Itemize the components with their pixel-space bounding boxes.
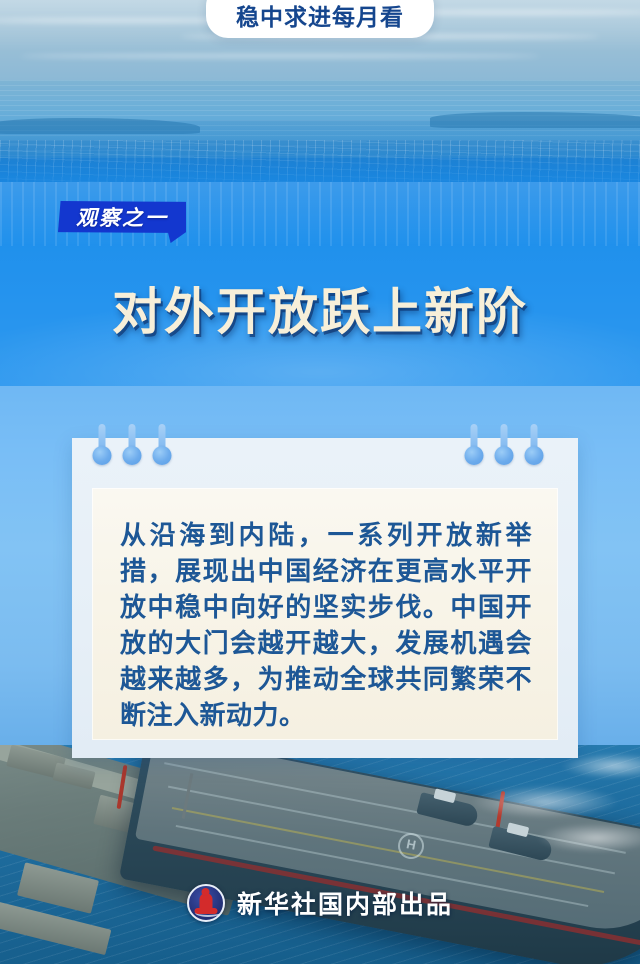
observation-tag: 观察之一 — [58, 201, 186, 243]
emblem-arc — [195, 908, 221, 917]
footer-producer-label: 新华社国内部出品 — [237, 885, 453, 921]
note-pin-icon — [464, 424, 483, 466]
observation-tag-label: 观察之一 — [58, 204, 186, 232]
note-card-body-text: 从沿海到内陆，一系列开放新举措，展现出中国经济在更高水平开放中稳中向好的坚实步伐… — [120, 518, 532, 734]
infographic-poster: 稳中求进每月看 观察之一 对外开放跃上新阶 从沿海到内陆，一系列开放新举措，展现… — [0, 0, 640, 964]
pin-head — [494, 446, 513, 465]
note-pin-icon — [152, 424, 171, 466]
series-title-label: 稳中求进每月看 — [236, 6, 404, 29]
note-pin-icon — [524, 424, 543, 466]
note-pin-icon — [92, 424, 111, 466]
note-pin-icon — [122, 424, 141, 466]
pin-head — [152, 446, 171, 465]
pin-head — [464, 446, 483, 465]
series-title-badge: 稳中求进每月看 — [206, 0, 434, 38]
cloud-streak — [20, 54, 540, 58]
boat-wake — [470, 785, 620, 819]
note-pin-icon — [494, 424, 513, 466]
footer: 新华社国内部出品 — [0, 884, 640, 922]
note-card-inner-panel: 从沿海到内陆，一系列开放新举措，展现出中国经济在更高水平开放中稳中向好的坚实步伐… — [92, 488, 558, 740]
pin-head — [92, 446, 111, 465]
xinhua-emblem-icon — [187, 884, 225, 922]
tanker-port-photo — [0, 745, 640, 964]
note-card: 从沿海到内陆，一系列开放新举措，展现出中国经济在更高水平开放中稳中向好的坚实步伐… — [72, 438, 578, 758]
page-title-text: 对外开放跃上新阶 — [112, 272, 528, 344]
pin-head — [524, 446, 543, 465]
pin-head — [122, 446, 141, 465]
page-title: 对外开放跃上新阶 — [0, 272, 640, 344]
